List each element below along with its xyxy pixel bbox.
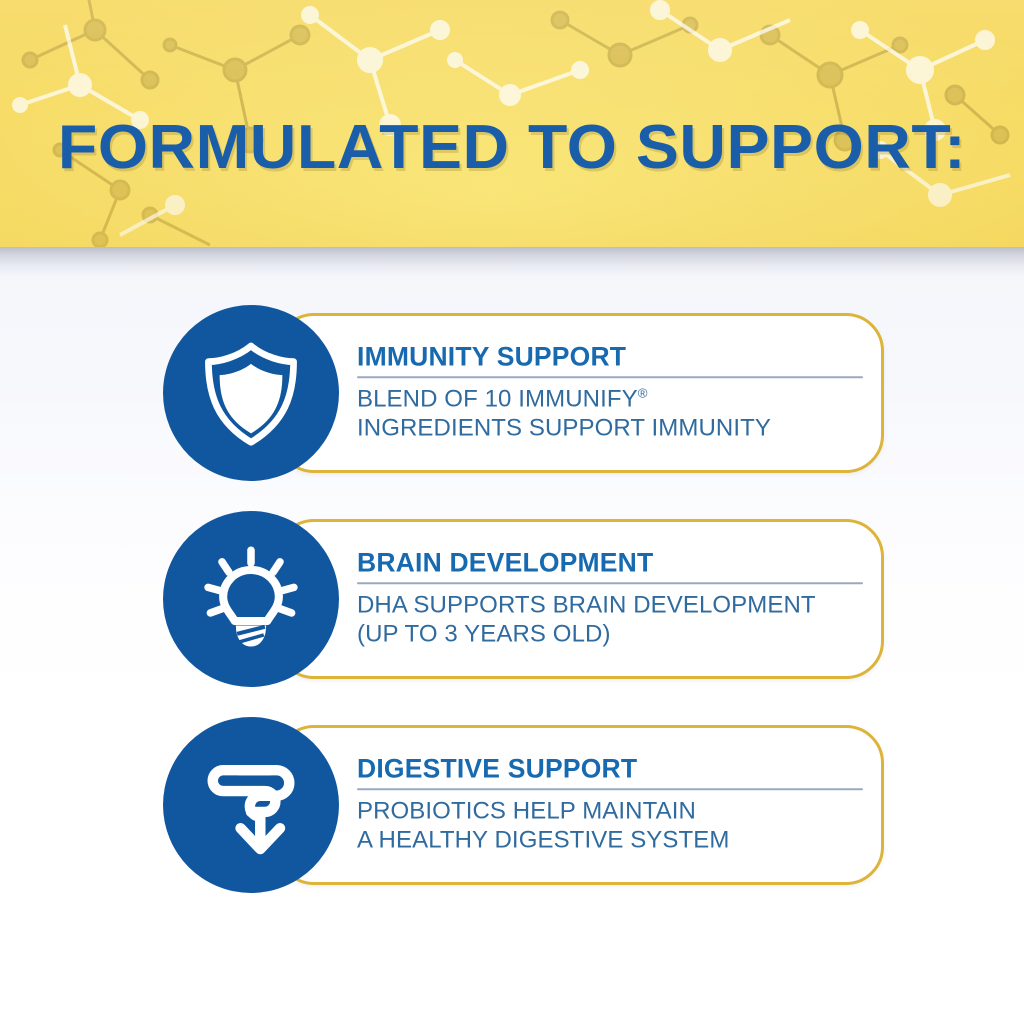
card-rule	[357, 376, 863, 378]
card-description-text: PROBIOTICS HELP MAINTAIN	[357, 797, 696, 824]
card-panel: IMMUNITY SUPPORT BLEND OF 10 IMMUNIFY® I…	[276, 313, 884, 473]
card-description-text: BLEND OF 10 IMMUNIFY	[357, 385, 638, 412]
card-description-line-2: A HEALTHY DIGESTIVE SYSTEM	[357, 826, 863, 855]
card-title: DIGESTIVE SUPPORT	[357, 755, 863, 783]
card-rule	[357, 788, 863, 790]
card-description-line-2: INGREDIENTS SUPPORT IMMUNITY	[357, 414, 863, 443]
banner-drop-shadow	[0, 247, 1024, 281]
card-description-line-2: (UP TO 3 YEARS OLD)	[357, 620, 863, 649]
card-description-text: DHA SUPPORTS BRAIN DEVELOPMENT	[357, 591, 816, 618]
page-title: FORMULATED TO SUPPORT:	[0, 112, 1024, 183]
lightbulb-icon	[163, 511, 339, 687]
card-title: BRAIN DEVELOPMENT	[357, 549, 863, 577]
header-banner: FORMULATED TO SUPPORT:	[0, 0, 1024, 247]
feature-card-brain: BRAIN DEVELOPMENT DHA SUPPORTS BRAIN DEV…	[0, 511, 1024, 687]
feature-card-list: IMMUNITY SUPPORT BLEND OF 10 IMMUNIFY® I…	[0, 305, 1024, 923]
card-title: IMMUNITY SUPPORT	[357, 343, 863, 371]
feature-card-digestive: DIGESTIVE SUPPORT PROBIOTICS HELP MAINTA…	[0, 717, 1024, 893]
card-description-line-1: DHA SUPPORTS BRAIN DEVELOPMENT	[357, 591, 863, 620]
shield-icon	[163, 305, 339, 481]
feature-card-immunity: IMMUNITY SUPPORT BLEND OF 10 IMMUNIFY® I…	[0, 305, 1024, 481]
card-rule	[357, 582, 863, 584]
card-panel: DIGESTIVE SUPPORT PROBIOTICS HELP MAINTA…	[276, 725, 884, 885]
card-description-line-1: BLEND OF 10 IMMUNIFY®	[357, 385, 863, 414]
card-panel: BRAIN DEVELOPMENT DHA SUPPORTS BRAIN DEV…	[276, 519, 884, 679]
poster-canvas: FORMULATED TO SUPPORT: IMMUNITY SUPPORT …	[0, 0, 1024, 1024]
registered-mark: ®	[638, 385, 648, 400]
card-description-line-1: PROBIOTICS HELP MAINTAIN	[357, 797, 863, 826]
intestine-icon	[163, 717, 339, 893]
